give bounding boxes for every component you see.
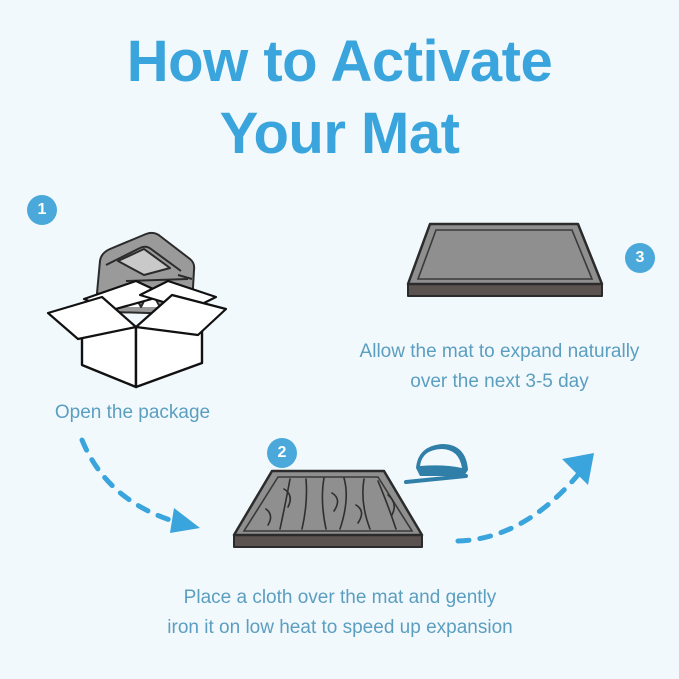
step-2-badge: 2 <box>267 438 297 468</box>
wrinkled-mat-icon <box>228 465 428 560</box>
arrow-step1-to-step2-icon <box>70 430 230 540</box>
step-3-caption-line-2: over the next 3-5 day <box>320 367 679 397</box>
open-box-with-mat-icon <box>40 215 230 390</box>
flat-expanded-mat-icon <box>400 218 610 308</box>
page-title-line-1: How to Activate <box>0 26 679 98</box>
arrow-step2-to-step3-icon <box>450 445 610 555</box>
page-title: How to Activate Your Mat <box>0 26 679 170</box>
step-1-caption-line-1: Open the package <box>0 398 265 428</box>
infographic-canvas: How to Activate Your Mat 1 Open the pack… <box>0 0 679 679</box>
step-3-caption-line-1: Allow the mat to expand naturally <box>320 337 679 367</box>
step-2-caption-line-2: iron it on low heat to speed up expansio… <box>95 613 585 643</box>
step-3-badge: 3 <box>625 243 655 273</box>
page-title-line-2: Your Mat <box>0 98 679 170</box>
step-3-caption: Allow the mat to expand naturally over t… <box>320 337 679 397</box>
step-2-caption: Place a cloth over the mat and gently ir… <box>95 583 585 643</box>
step-1-caption: Open the package <box>0 398 265 428</box>
step-2-caption-line-1: Place a cloth over the mat and gently <box>95 583 585 613</box>
